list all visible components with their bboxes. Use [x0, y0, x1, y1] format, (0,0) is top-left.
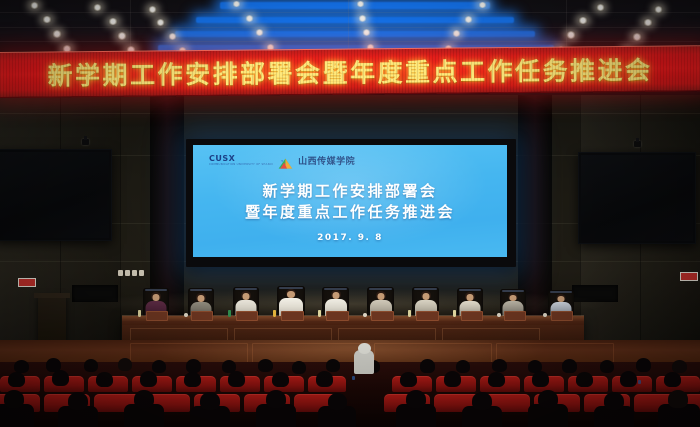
- ceiling-panel-seam: [0, 27, 700, 28]
- slide-logo: CUSX COMMUNICATION UNIVERSITY OF SHANXI …: [209, 154, 355, 167]
- audience-head: [576, 372, 593, 387]
- camera-icon: [634, 141, 641, 147]
- audience-head: [492, 359, 507, 372]
- ceiling-downlight: [245, 15, 254, 22]
- name-placard: [504, 311, 526, 321]
- audience-head: [52, 370, 69, 386]
- audience-head: [620, 371, 637, 387]
- panelist-face: [243, 293, 250, 300]
- wall-sign-left: [18, 278, 36, 287]
- ceiling-downlight: [52, 30, 62, 38]
- auditorium-seating: [0, 362, 700, 427]
- tea-cup: [543, 313, 547, 317]
- panelist-face: [198, 295, 205, 302]
- event-banner-surface: 新学期工作安排部署会暨年度重点工作任务推进会: [0, 45, 700, 98]
- ceiling-downlight: [654, 6, 663, 13]
- side-display-left-surface: [0, 152, 109, 238]
- ceiling-downlight: [232, 1, 241, 7]
- ceiling-panel-seam: [0, 41, 700, 42]
- audience-head: [532, 371, 549, 387]
- ceiling-downlight: [42, 16, 52, 23]
- panelist-face: [287, 291, 295, 298]
- socket-icon: [139, 270, 144, 276]
- ceiling-downlight: [148, 6, 157, 13]
- ceiling-downlight: [117, 32, 127, 40]
- audience-head: [68, 392, 88, 410]
- chair-highlight: [190, 289, 212, 291]
- name-placard: [416, 311, 439, 321]
- name-placard: [551, 311, 573, 321]
- logo-wordmark: CUSX COMMUNICATION UNIVERSITY OF SHANXI: [209, 155, 273, 167]
- audience-head: [400, 372, 417, 387]
- water-bottle: [453, 310, 456, 317]
- panelist-face: [467, 294, 474, 301]
- name-placard: [371, 311, 394, 321]
- audience-head: [406, 390, 426, 408]
- audience-head: [316, 371, 333, 387]
- audience-head: [272, 372, 289, 387]
- wall-sign-right: [680, 272, 698, 281]
- audience-head: [152, 360, 166, 373]
- chair-highlight: [235, 288, 257, 290]
- ceiling-downlight: [362, 29, 371, 36]
- audience-head: [456, 360, 470, 373]
- audience-head: [326, 359, 340, 372]
- event-banner: 新学期工作安排部署会暨年度重点工作任务推进会: [0, 45, 700, 96]
- audience-head: [228, 371, 245, 387]
- audience-head: [444, 371, 461, 387]
- audience-head: [420, 359, 435, 373]
- tea-cup: [363, 313, 367, 317]
- ceiling-downlight: [108, 18, 118, 25]
- wall-seam: [0, 113, 700, 114]
- audience-head: [184, 372, 201, 387]
- panelist-face: [332, 292, 339, 299]
- chair-highlight: [414, 288, 437, 290]
- projection-screen: CUSX COMMUNICATION UNIVERSITY OF SHANXI …: [186, 139, 516, 267]
- audience-head: [600, 360, 614, 373]
- ceiling-downlight: [358, 15, 367, 22]
- ceiling-downlight: [93, 4, 102, 11]
- ceiling-panel-seam: [0, 12, 700, 13]
- ceiling-downlight: [452, 30, 461, 37]
- chair-highlight: [459, 289, 481, 291]
- audience-head: [266, 390, 286, 408]
- slide-title-line-2: 暨年度重点工作任务推进会: [193, 202, 507, 223]
- wall-socket-panel: [118, 270, 144, 276]
- lectern: [38, 295, 66, 343]
- audience-head: [258, 359, 273, 372]
- audience-head: [672, 360, 687, 373]
- water-bottle: [408, 310, 411, 317]
- ceiling-downlight: [578, 17, 588, 24]
- panelist-face: [153, 294, 160, 301]
- audience-head: [118, 358, 132, 371]
- slide-title: 新学期工作安排部署会 暨年度重点工作任务推进会: [193, 181, 507, 223]
- name-placard: [236, 311, 258, 321]
- audience-head: [604, 392, 624, 410]
- chair-highlight: [369, 288, 392, 290]
- slide-date: 2017. 9. 8: [193, 233, 507, 243]
- chair-highlight: [145, 289, 167, 291]
- side-display-right: [578, 152, 696, 244]
- ceiling-downlight: [596, 4, 605, 11]
- name-placard: [461, 311, 483, 321]
- audience-head: [664, 372, 681, 387]
- socket-icon: [118, 270, 123, 276]
- chair-highlight: [550, 291, 572, 293]
- side-display-left: [0, 149, 112, 241]
- lectern-top: [34, 293, 70, 298]
- audience-head: [472, 392, 492, 410]
- audience-head: [4, 390, 24, 408]
- slide-title-line-1: 新学期工作安排部署会: [193, 181, 507, 202]
- ceiling-downlight: [168, 33, 177, 40]
- person-in-aisle-head: [358, 343, 371, 354]
- water-bottle: [318, 310, 321, 317]
- audience-head: [328, 393, 347, 410]
- ceiling-downlight: [478, 2, 487, 8]
- ceiling-downlight: [255, 29, 264, 36]
- ceiling-downlight: [566, 31, 576, 39]
- stage-light-pool: [95, 289, 605, 319]
- phone-screen: [638, 380, 641, 384]
- tea-cup: [497, 313, 501, 317]
- ceiling-led-strip: [175, 31, 535, 37]
- ceiling-led-strip: [220, 2, 490, 9]
- camera-icon: [82, 139, 89, 145]
- name-placard: [191, 311, 213, 321]
- audience-head: [636, 358, 651, 372]
- socket-icon: [125, 270, 130, 276]
- audience-head: [538, 390, 558, 408]
- name-placard: [146, 311, 168, 321]
- mountain-logo-icon: [278, 155, 293, 167]
- audience-head: [96, 372, 113, 387]
- tea-cup: [184, 313, 188, 317]
- audience-head: [562, 359, 577, 373]
- ceiling-downlight: [643, 19, 653, 26]
- ceiling-downlight: [30, 2, 39, 9]
- audience-head: [140, 371, 157, 387]
- university-name: 山西传媒学院: [298, 154, 355, 167]
- logo-subtitle: COMMUNICATION UNIVERSITY OF SHANXI: [209, 164, 273, 167]
- audience-head: [186, 359, 201, 373]
- ceiling-downlight: [464, 16, 473, 23]
- name-placard: [281, 311, 304, 321]
- audience-head: [488, 372, 505, 387]
- audience-head: [134, 390, 154, 408]
- water-bottle: [138, 310, 141, 317]
- audience-head: [292, 361, 306, 374]
- projection-screen-surface: CUSX COMMUNICATION UNIVERSITY OF SHANXI …: [193, 145, 507, 257]
- water-bottle: [228, 310, 231, 317]
- logo-abbrev: CUSX: [209, 155, 273, 163]
- audience-head: [200, 392, 220, 410]
- panelist-face: [422, 293, 429, 300]
- side-display-right-surface: [581, 155, 693, 241]
- ceiling-downlight: [632, 33, 642, 41]
- audience-head: [668, 390, 688, 408]
- ceiling-downlight: [156, 19, 165, 26]
- name-placard: [326, 311, 349, 321]
- phone-screen: [352, 376, 355, 380]
- ceiling-downlight: [356, 1, 365, 7]
- chair-highlight: [502, 290, 524, 292]
- conference-hall-photo: CUSX COMMUNICATION UNIVERSITY OF SHANXI …: [0, 0, 700, 427]
- audience-head: [84, 359, 98, 372]
- event-banner-text: 新学期工作安排部署会暨年度重点工作任务推进会: [47, 51, 652, 93]
- water-bottle: [273, 310, 276, 317]
- audience-head: [8, 372, 25, 387]
- socket-icon: [132, 270, 137, 276]
- panelist-face: [377, 293, 384, 300]
